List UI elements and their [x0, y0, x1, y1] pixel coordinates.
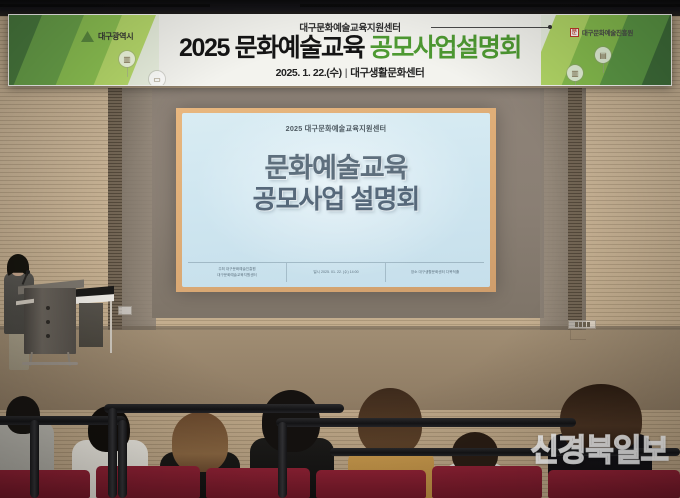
- wall-sign-foot: [570, 339, 586, 340]
- daegu-city-mountain-icon: [81, 31, 94, 42]
- banner-separator: |: [345, 67, 348, 79]
- aisle-rail-post-left: [30, 420, 39, 498]
- banner-rule-icon: [431, 27, 549, 28]
- ceiling-rail-left: [0, 4, 210, 7]
- aisle-rail-post-right: [278, 422, 287, 498]
- banner-logo-left: 대구광역시: [81, 31, 133, 42]
- slide-title-line1: 문화예술교육: [182, 153, 490, 184]
- banner-logo-right-text: 대구문화예술진흥원: [582, 27, 633, 37]
- chart-bar-icon: ▥: [119, 51, 135, 67]
- audience-seat-5: [432, 466, 542, 498]
- lectern: [24, 288, 76, 354]
- lectern-knob-3: [46, 334, 50, 338]
- banner-text-block: 대구문화예술교육지원센터 2025 문화예술교육 공모사업설명회 2025. 1…: [159, 15, 541, 85]
- slide-footer-datetime: 일시 2025. 01. 22. (수) 14:00: [287, 263, 386, 282]
- ceiling-rail-right: [300, 4, 680, 7]
- banner-title-main: 2025 문화예술교육: [179, 34, 364, 62]
- stage-chair: [79, 303, 103, 347]
- slide-footer-venue: 장소 대구생활문화센터 다목적홀: [386, 263, 484, 282]
- banner-title-accent: 공모사업설명회: [370, 34, 521, 62]
- audience-seat-4: [316, 470, 426, 498]
- audience-seat-3: [206, 468, 310, 498]
- aisle-rail-post-mid: [108, 408, 117, 498]
- slide-footer-host: 주최 대구문화예술진흥원 대구문화예술교육지원센터: [188, 263, 287, 282]
- monitor-icon: ▭: [149, 71, 165, 86]
- banner-logo-right: 문 대구문화예술진흥원: [570, 27, 633, 37]
- slide-footer-host-line2: 대구문화예술교육지원센터: [217, 273, 257, 278]
- slide-title: 문화예술교육 공모사업 설명회: [182, 153, 490, 214]
- briefcase-icon: ▤: [595, 47, 611, 63]
- lectern-knob-2: [46, 320, 50, 324]
- aisle-rail-mid: [104, 404, 344, 413]
- chart-column-icon: ▥: [567, 65, 583, 81]
- event-banner: 대구문화예술교육지원센터 2025 문화예술교육 공모사업설명회 2025. 1…: [8, 14, 672, 86]
- audience-seat-1: [0, 470, 90, 498]
- audience-seat-6: [548, 470, 680, 498]
- microphone-icon: [26, 270, 30, 274]
- banner-eyebrow: 대구문화예술교육지원센터: [159, 20, 541, 34]
- slide-title-line2: 공모사업 설명회: [182, 184, 490, 214]
- banner-venue: 대구생활문화센터: [350, 67, 424, 79]
- banner-eyebrow-text: 대구문화예술교육지원센터: [299, 23, 400, 34]
- slide-footer-venue-line1: 장소 대구생활문화센터 다목적홀: [411, 270, 459, 275]
- banner-title: 2025 문화예술교육 공모사업설명회: [179, 35, 521, 61]
- exit-wall-sign: [568, 320, 596, 329]
- aisle-rail-front: [330, 448, 680, 456]
- banner-logo-left-text: 대구광역시: [98, 31, 133, 42]
- daegu-arts-mark-icon: 문: [570, 28, 579, 37]
- projection-screen: 2025 대구문화예술교육지원센터 문화예술교육 공모사업 설명회 주최 대구문…: [176, 108, 496, 292]
- lectern-base: [22, 362, 78, 365]
- slide-eyebrow: 2025 대구문화예술교육지원센터: [182, 124, 490, 134]
- lectern-knob-1: [46, 306, 50, 310]
- aisle-rail-post-left2: [118, 420, 127, 498]
- audience-person-3-head: [172, 412, 228, 472]
- slide-footer: 주최 대구문화예술진흥원 대구문화예술교육지원센터 일시 2025. 01. 2…: [188, 262, 484, 282]
- presentation-slide: 2025 대구문화예술교육지원센터 문화예술교육 공모사업 설명회 주최 대구문…: [182, 113, 490, 287]
- wood-panel-right: [568, 88, 582, 338]
- banner-date: 2025. 1. 22.(수): [276, 67, 342, 79]
- banner-subtitle: 2025. 1. 22.(수)|대구생활문화센터: [276, 65, 425, 80]
- wall-outlet: [118, 306, 132, 315]
- slide-footer-datetime-line1: 일시 2025. 01. 22. (수) 14:00: [313, 270, 358, 275]
- stage-table-leg-right: [110, 301, 112, 353]
- event-photo: 2025 대구문화예술교육지원센터 문화예술교육 공모사업 설명회 주최 대구문…: [0, 0, 680, 498]
- aisle-rail-right: [276, 418, 576, 427]
